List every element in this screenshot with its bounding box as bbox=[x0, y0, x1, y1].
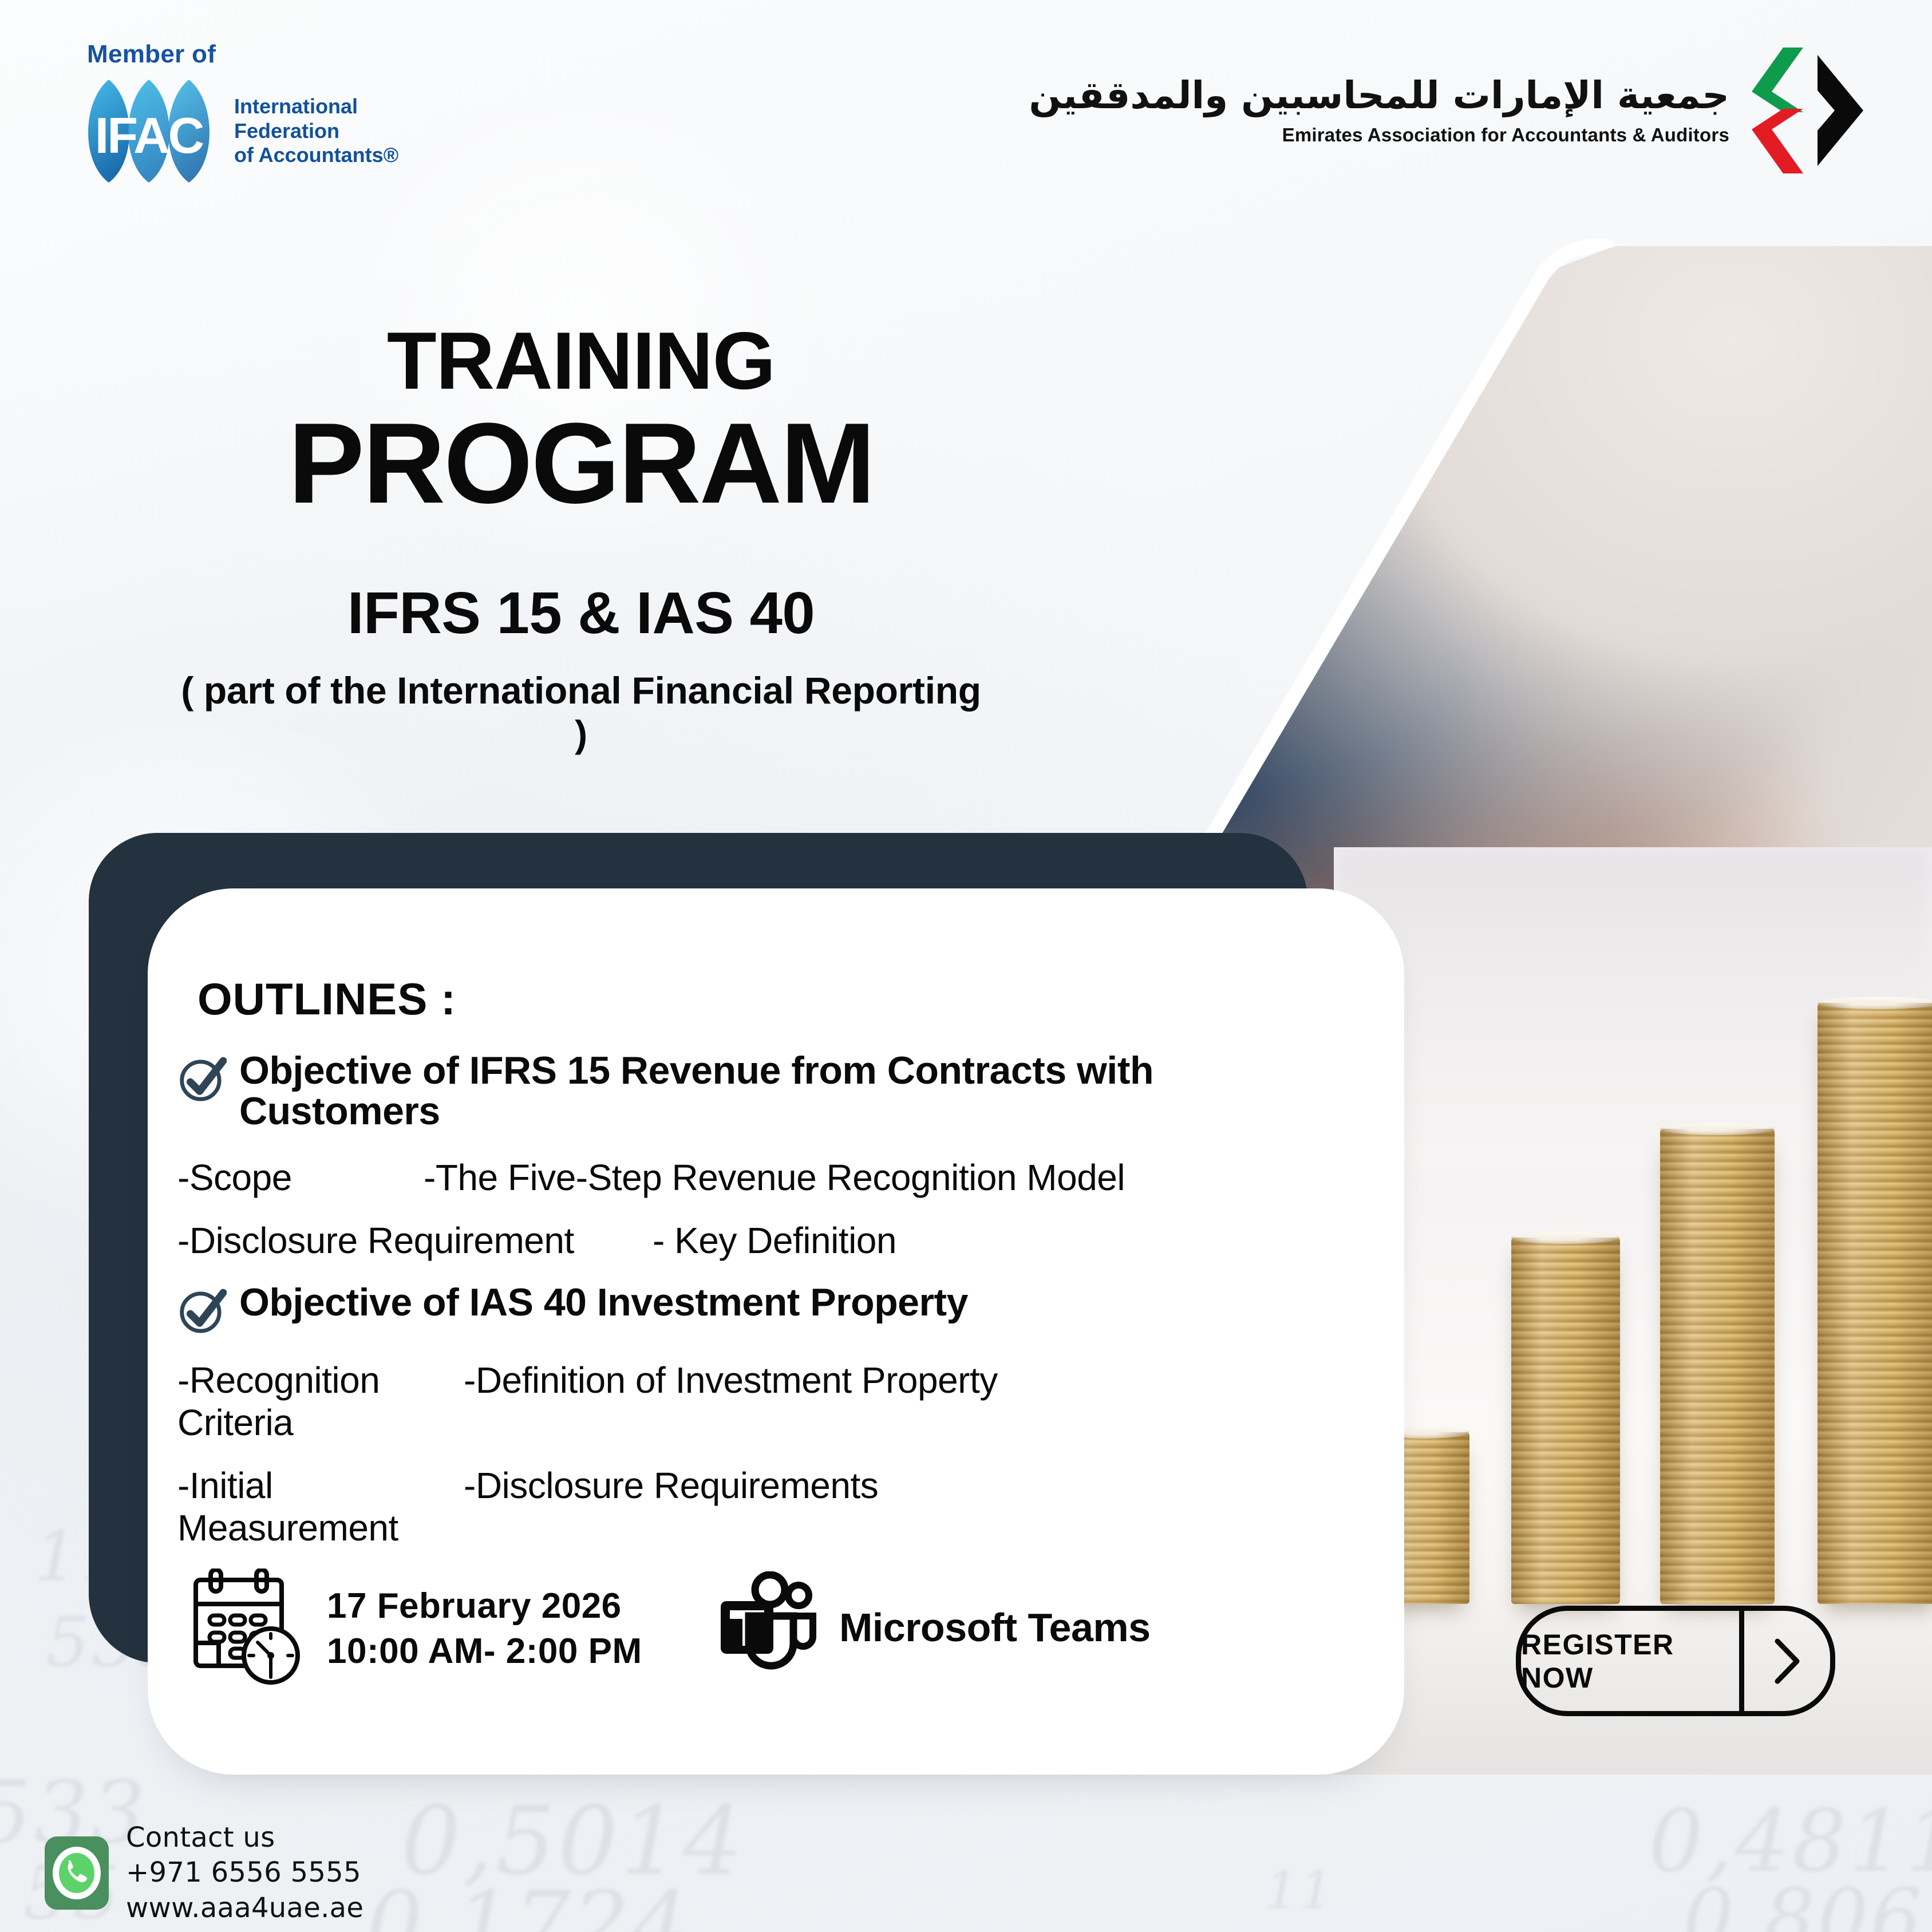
ifac-fullname-line3: of Accountants® bbox=[234, 143, 398, 167]
background-number: 11 bbox=[1265, 1860, 1336, 1921]
outline-group: Objective of IAS 40 Investment Property … bbox=[177, 1282, 1334, 1549]
contact-website[interactable]: www.aaa4uae.ae bbox=[126, 1891, 364, 1926]
ifac-logo: Member of bbox=[73, 40, 463, 185]
outline-item: -Recognition Criteria bbox=[177, 1359, 464, 1444]
outline-item: -Initial Measurement bbox=[177, 1464, 464, 1549]
page-title-line2: PROGRAM bbox=[172, 405, 990, 522]
check-circle-icon bbox=[177, 1054, 227, 1103]
outline-group: Objective of IFRS 15 Revenue from Contra… bbox=[177, 1050, 1334, 1262]
event-date: 17 February 2026 bbox=[327, 1583, 642, 1629]
outline-item: -The Five-Step Revenue Recognition Model bbox=[424, 1156, 1125, 1199]
page-title-line1: TRAINING bbox=[172, 321, 990, 402]
register-now-button[interactable]: REGISTER NOW bbox=[1516, 1606, 1835, 1716]
event-time: 10:00 AM- 2:00 PM bbox=[327, 1629, 642, 1674]
ifac-mark-icon: IFAC bbox=[73, 77, 225, 185]
headline-block: TRAINING PROGRAM IFRS 15 & IAS 40 ( part… bbox=[172, 321, 990, 756]
ifac-member-of-label: Member of bbox=[87, 40, 463, 69]
coin-stack bbox=[1511, 1238, 1620, 1604]
outlines-heading: OUTLINES : bbox=[197, 973, 456, 1025]
outline-item: - Key Definition bbox=[653, 1219, 896, 1262]
ifac-fullname-line1: International bbox=[234, 94, 398, 118]
association-english-name: Emirates Association for Accountants & A… bbox=[1029, 124, 1729, 146]
outline-item: -Disclosure Requirement bbox=[177, 1219, 653, 1262]
contact-block: Contact us +971 6556 5555 www.aaa4uae.ae bbox=[45, 1820, 364, 1926]
association-logo: جمعية الإمارات للمحاسبين والمدققين Emira… bbox=[1029, 45, 1866, 176]
ifac-fullname: International Federation of Accountants® bbox=[234, 94, 398, 167]
outline-group-heading: Objective of IFRS 15 Revenue from Contra… bbox=[239, 1050, 1334, 1132]
register-divider bbox=[1739, 1611, 1744, 1711]
microsoft-teams-icon bbox=[713, 1571, 824, 1683]
outline-item: -Disclosure Requirements bbox=[464, 1464, 878, 1549]
background-number: 0,5014 bbox=[401, 1786, 745, 1896]
coin-stack bbox=[1818, 1003, 1932, 1604]
standards-subtitle: ( part of the International Financial Re… bbox=[172, 669, 990, 756]
check-circle-icon bbox=[177, 1286, 227, 1335]
register-now-label: REGISTER NOW bbox=[1521, 1611, 1739, 1711]
background-number: 0,806 bbox=[1683, 1872, 1924, 1932]
outline-group-heading: Objective of IAS 40 Investment Property bbox=[239, 1282, 968, 1323]
contact-phone[interactable]: +971 6556 5555 bbox=[126, 1855, 364, 1890]
standards-title: IFRS 15 & IAS 40 bbox=[172, 579, 990, 647]
outline-item: -Definition of Investment Property bbox=[464, 1359, 998, 1444]
platform-label: Microsoft Teams bbox=[839, 1605, 1151, 1650]
whatsapp-icon[interactable] bbox=[45, 1836, 109, 1910]
event-datetime: 17 February 2026 10:00 AM- 2:00 PM bbox=[189, 1568, 642, 1689]
association-chevron-icon bbox=[1749, 45, 1866, 176]
poster-canvas: 533 55 0,5014 0,1724 0,4811 0,806 11 533… bbox=[0, 0, 1932, 1932]
coin-stack bbox=[1660, 1129, 1775, 1604]
svg-text:IFAC: IFAC bbox=[95, 107, 204, 164]
association-arabic-name: جمعية الإمارات للمحاسبين والمدققين bbox=[1029, 75, 1729, 117]
background-number: 0,4811 bbox=[1649, 1792, 1932, 1891]
calendar-clock-icon bbox=[189, 1568, 306, 1689]
chevron-right-icon[interactable] bbox=[1744, 1611, 1830, 1711]
ifac-fullname-line2: Federation bbox=[234, 119, 398, 143]
contact-title: Contact us bbox=[126, 1820, 364, 1855]
background-number: 0,1724 bbox=[366, 1872, 690, 1932]
outline-item: -Scope bbox=[177, 1156, 424, 1199]
event-platform: Microsoft Teams bbox=[713, 1571, 1151, 1683]
